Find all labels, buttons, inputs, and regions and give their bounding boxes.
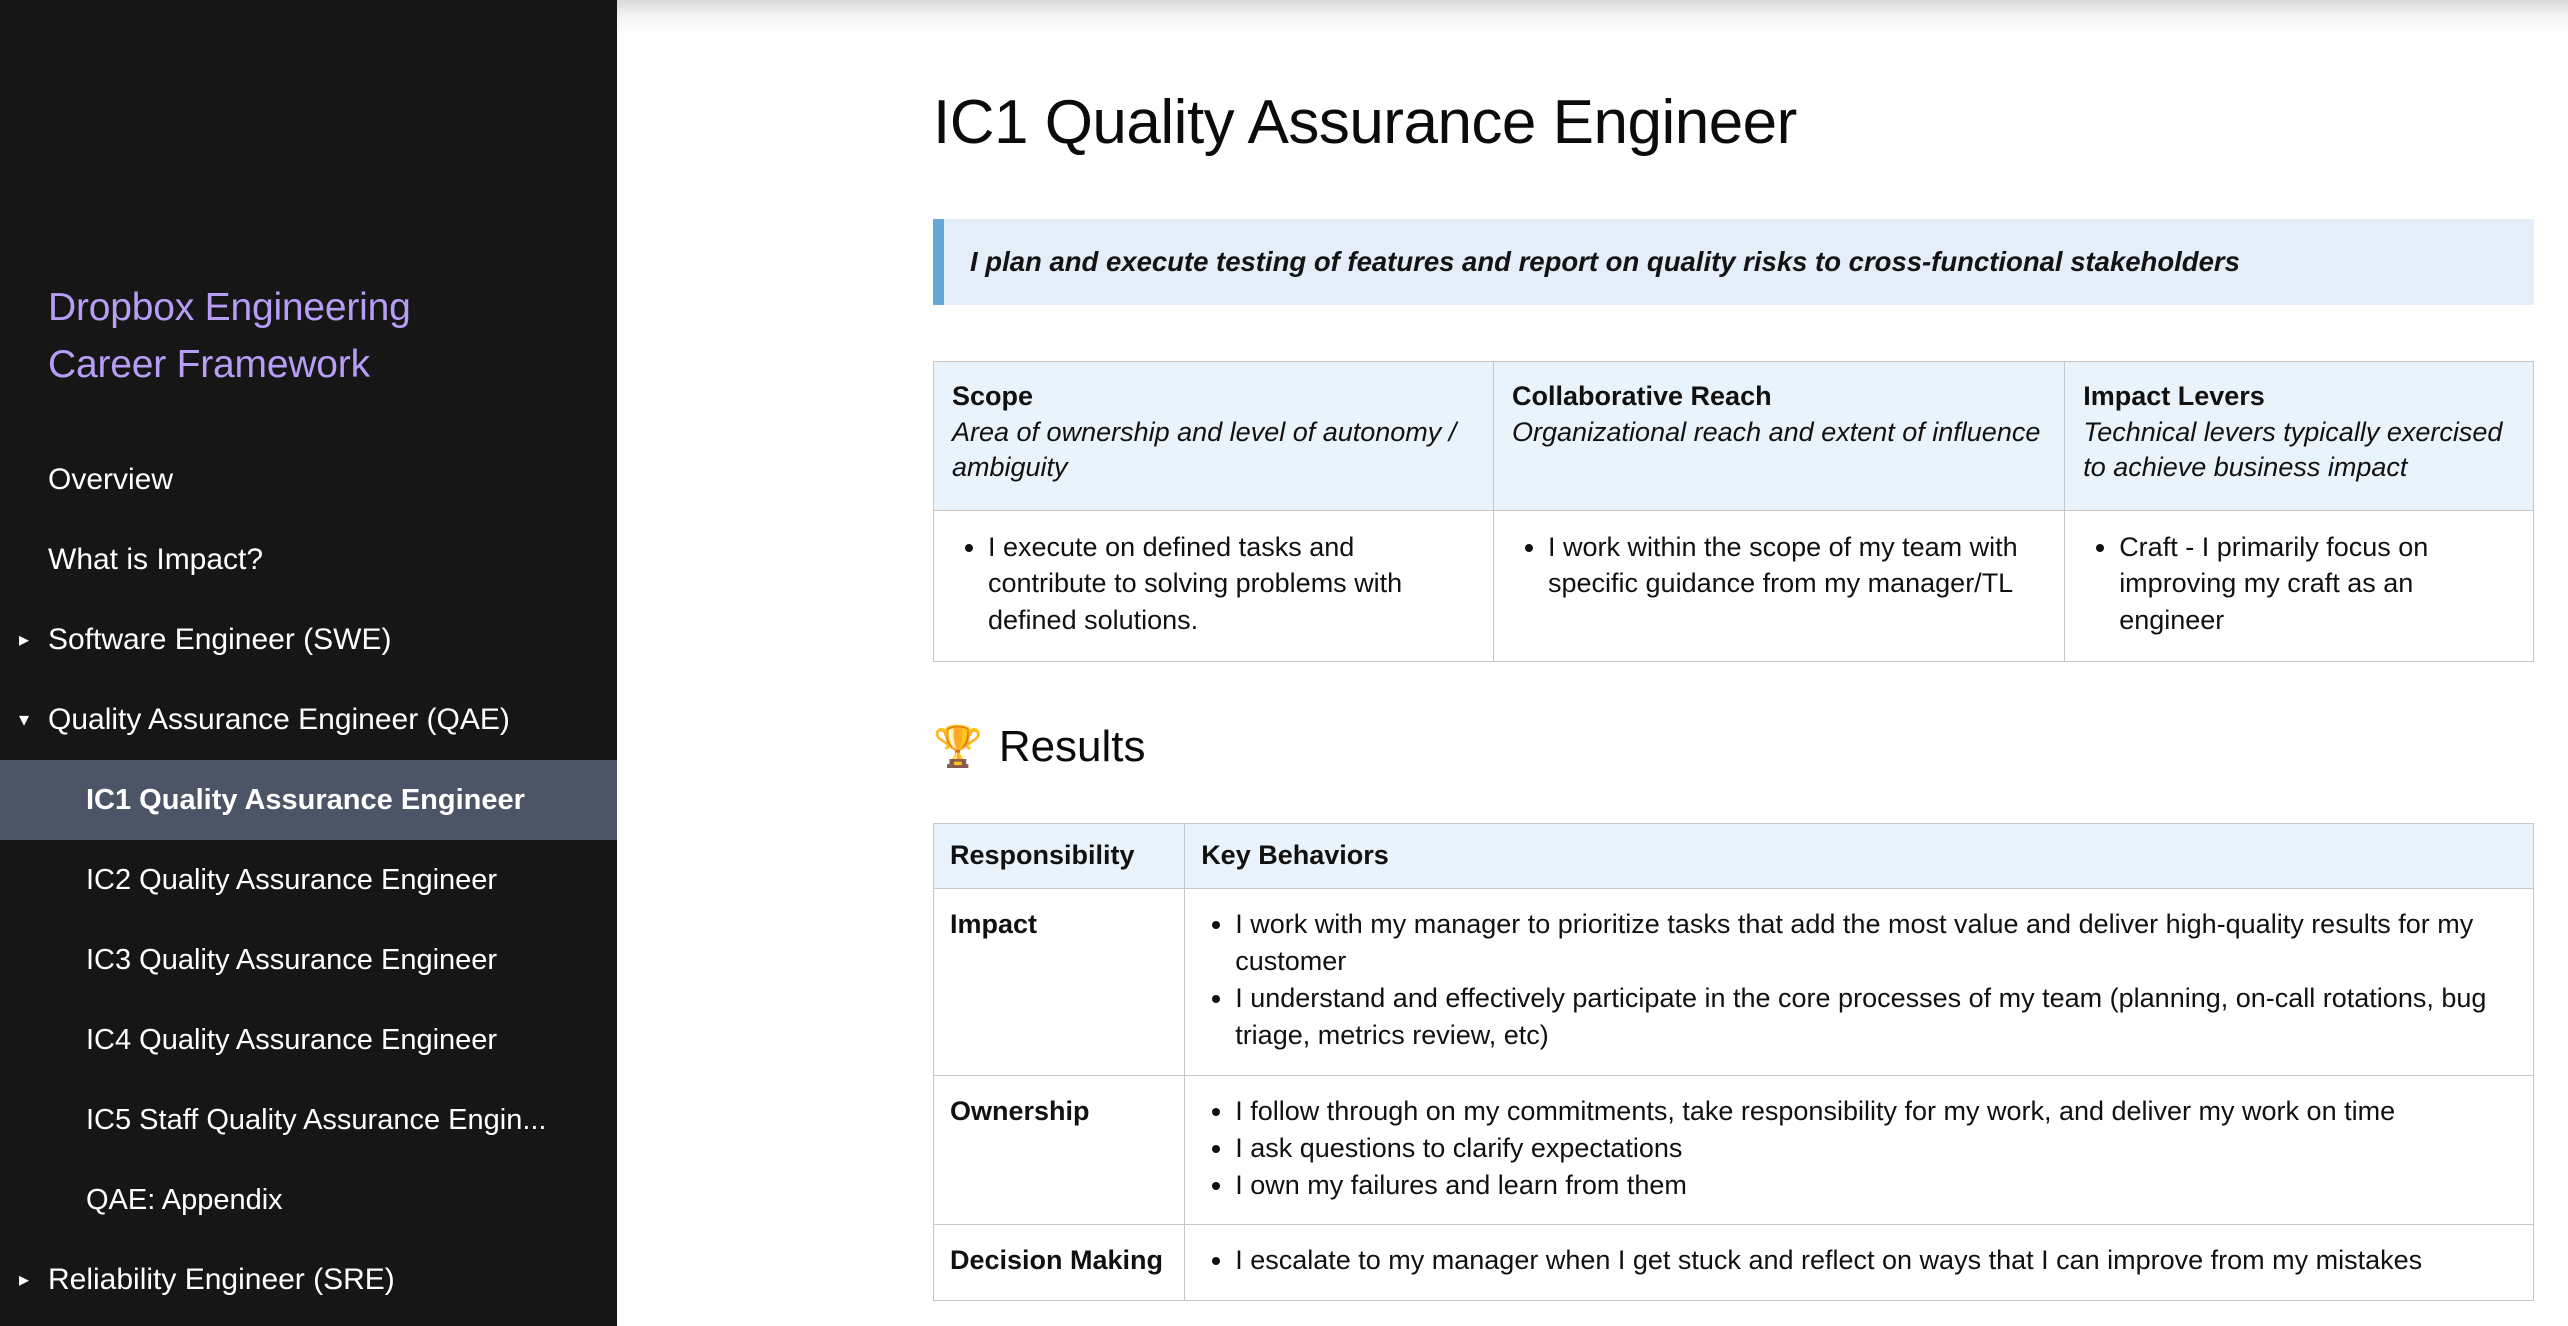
key-behavior-list: I escalate to my manager when I get stuc…	[1201, 1242, 2517, 1279]
key-behavior-item: I understand and effectively participate…	[1235, 980, 2517, 1055]
sidebar-item-label: What is Impact?	[48, 543, 263, 577]
table-row: OwnershipI follow through on my commitme…	[934, 1075, 2534, 1225]
sidebar-item-ic1-quality-assurance-engineer[interactable]: IC1 Quality Assurance Engineer	[0, 760, 617, 840]
results-header-row: Responsibility Key Behaviors	[934, 823, 2534, 888]
sidebar-item-ic3-quality-assurance-engineer[interactable]: IC3 Quality Assurance Engineer	[0, 920, 617, 1000]
pillar-subtitle: Organizational reach and extent of influ…	[1512, 415, 2046, 451]
key-behavior-item: I own my failures and learn from them	[1235, 1167, 2517, 1204]
sidebar-item-label: Quality Assurance Engineer (QAE)	[48, 703, 510, 737]
pillar-bullet: Craft - I primarily focus on improving m…	[2119, 529, 2515, 639]
pillar-title: Impact Levers	[2083, 379, 2515, 414]
pillars-header-cell: Scope Area of ownership and level of aut…	[934, 362, 1494, 510]
results-header-responsibility: Responsibility	[934, 823, 1185, 888]
sidebar-item-what-is-impact[interactable]: What is Impact?	[0, 520, 617, 600]
results-table-body: ImpactI work with my manager to prioriti…	[934, 888, 2534, 1300]
content-column: IC1 Quality Assurance Engineer I plan an…	[933, 0, 2534, 1301]
responsibility-cell: Impact	[934, 888, 1185, 1075]
brand-line-1: Dropbox Engineering	[48, 279, 411, 336]
sidebar-item-label: Reliability Engineer (SRE)	[48, 1263, 395, 1297]
sidebar-item-label: IC5 Staff Quality Assurance Engin...	[86, 1104, 547, 1137]
pillar-subtitle: Area of ownership and level of autonomy …	[952, 415, 1475, 486]
sidebar-item-label: IC1 Quality Assurance Engineer	[86, 784, 525, 817]
sidebar-item-label: IC2 Quality Assurance Engineer	[86, 864, 497, 897]
pillar-bullet-list: Craft - I primarily focus on improving m…	[2083, 529, 2515, 639]
key-behaviors-cell: I escalate to my manager when I get stuc…	[1185, 1225, 2534, 1300]
pillars-table: Scope Area of ownership and level of aut…	[933, 361, 2534, 662]
pillars-body-cell: I work within the scope of my team with …	[1494, 510, 2065, 661]
key-behavior-item: I work with my manager to prioritize tas…	[1235, 906, 2517, 981]
pillar-title: Scope	[952, 379, 1475, 414]
responsibility-cell: Ownership	[934, 1075, 1185, 1225]
table-row: Decision MakingI escalate to my manager …	[934, 1225, 2534, 1300]
sidebar-item-quality-assurance-engineer-qae[interactable]: ▾Quality Assurance Engineer (QAE)	[0, 680, 617, 760]
pillars-header-cell: Collaborative Reach Organizational reach…	[1494, 362, 2065, 510]
sidebar-item-label: Software Engineer (SWE)	[48, 623, 391, 657]
sidebar: Dropbox Engineering Career Framework Ove…	[0, 0, 617, 1326]
table-row: ImpactI work with my manager to prioriti…	[934, 888, 2534, 1075]
main-content: IC1 Quality Assurance Engineer I plan an…	[617, 0, 2568, 1326]
key-behavior-item: I ask questions to clarify expectations	[1235, 1130, 2517, 1167]
brand-title: Dropbox Engineering Career Framework	[0, 279, 459, 393]
pillars-body-cell: Craft - I primarily focus on improving m…	[2065, 510, 2534, 661]
sidebar-item-label: IC4 Quality Assurance Engineer	[86, 1024, 497, 1057]
key-behavior-list: I work with my manager to prioritize tas…	[1201, 906, 2517, 1055]
pillar-bullet-list: I work within the scope of my team with …	[1512, 529, 2046, 602]
sidebar-nav: OverviewWhat is Impact?▸Software Enginee…	[0, 440, 617, 1320]
sidebar-item-qae-appendix[interactable]: QAE: Appendix	[0, 1160, 617, 1240]
key-behaviors-cell: I follow through on my commitments, take…	[1185, 1075, 2534, 1225]
pillars-header-cell: Impact Levers Technical levers typically…	[2065, 362, 2534, 510]
key-behavior-item: I escalate to my manager when I get stuc…	[1235, 1242, 2517, 1279]
sidebar-item-label: Overview	[48, 463, 173, 497]
sidebar-item-ic2-quality-assurance-engineer[interactable]: IC2 Quality Assurance Engineer	[0, 840, 617, 920]
responsibility-cell: Decision Making	[934, 1225, 1185, 1300]
pillars-header-row: Scope Area of ownership and level of aut…	[934, 362, 2534, 510]
sidebar-item-label: IC3 Quality Assurance Engineer	[86, 944, 497, 977]
sidebar-item-ic5-staff-quality-assurance-engin[interactable]: IC5 Staff Quality Assurance Engin...	[0, 1080, 617, 1160]
pillar-bullet-list: I execute on defined tasks and contribut…	[952, 529, 1475, 639]
results-header-key-behaviors: Key Behaviors	[1185, 823, 2534, 888]
pillar-bullet: I work within the scope of my team with …	[1548, 529, 2046, 602]
page-title: IC1 Quality Assurance Engineer	[933, 87, 2534, 158]
chevron-right-icon[interactable]: ▸	[12, 630, 36, 650]
pillars-body-row: I execute on defined tasks and contribut…	[934, 510, 2534, 661]
pillar-bullet: I execute on defined tasks and contribut…	[988, 529, 1475, 639]
sidebar-item-reliability-engineer-sre[interactable]: ▸Reliability Engineer (SRE)	[0, 1240, 617, 1320]
pillar-subtitle: Technical levers typically exercised to …	[2083, 415, 2515, 486]
brand-line-2: Career Framework	[48, 336, 411, 393]
results-section-heading: 🏆 Results	[933, 721, 2534, 774]
pillar-title: Collaborative Reach	[1512, 379, 2046, 414]
key-behavior-item: I follow through on my commitments, take…	[1235, 1093, 2517, 1130]
key-behavior-list: I follow through on my commitments, take…	[1201, 1093, 2517, 1205]
results-heading-label: Results	[999, 721, 1146, 774]
sidebar-item-overview[interactable]: Overview	[0, 440, 617, 520]
role-summary-callout: I plan and execute testing of features a…	[933, 219, 2534, 305]
trophy-icon: 🏆	[933, 727, 983, 767]
chevron-right-icon[interactable]: ▸	[12, 1270, 36, 1290]
sidebar-item-software-engineer-swe[interactable]: ▸Software Engineer (SWE)	[0, 600, 617, 680]
results-table: Responsibility Key Behaviors ImpactI wor…	[933, 823, 2534, 1301]
chevron-down-icon[interactable]: ▾	[12, 710, 36, 730]
pillars-body-cell: I execute on defined tasks and contribut…	[934, 510, 1494, 661]
key-behaviors-cell: I work with my manager to prioritize tas…	[1185, 888, 2534, 1075]
sidebar-item-label: QAE: Appendix	[86, 1184, 283, 1217]
sidebar-item-ic4-quality-assurance-engineer[interactable]: IC4 Quality Assurance Engineer	[0, 1000, 617, 1080]
